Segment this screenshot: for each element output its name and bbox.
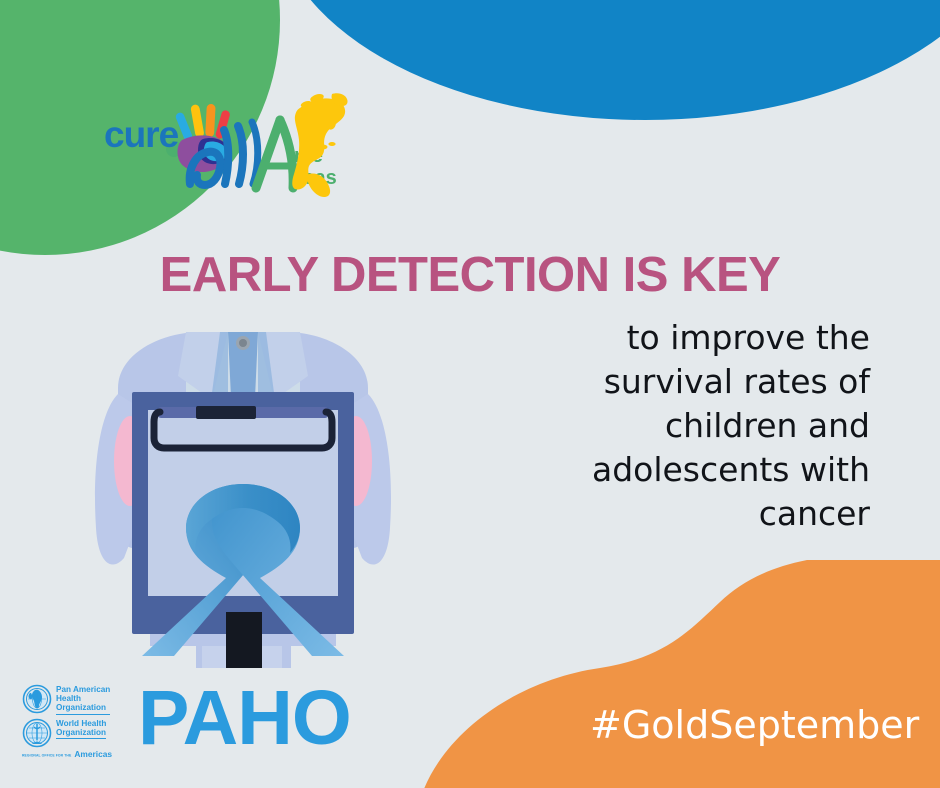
world-health-row: World Health Organization [22, 718, 134, 748]
paho-wordmark: PAHO [138, 680, 351, 757]
body-line-5: cancer [430, 492, 870, 536]
cureall-americas-a-text [256, 120, 293, 188]
health-line: Health [56, 694, 110, 703]
paho-emblems: Pan American Health Organization [22, 684, 134, 760]
body-line-2: survival rates of [430, 360, 870, 404]
orange-blob-decoration [420, 560, 940, 788]
americas-label: Americas [74, 749, 112, 759]
poster-canvas: cure me ricas EARLY DETECT [0, 0, 940, 788]
americas-map-icon [292, 93, 347, 197]
organization-line-1: Organization [56, 703, 110, 712]
cureall-cure-text: cure [104, 114, 179, 155]
pan-american-line: Pan American [56, 685, 110, 694]
paho-logo-lockup: Pan American Health Organization [22, 684, 412, 764]
world-health-line: World Health [56, 719, 106, 728]
regional-office-label: REGIONAL OFFICE FOR THE [22, 753, 71, 757]
doctor-clipboard-ribbon-illustration [78, 316, 408, 668]
cureall-americas-logo: cure me ricas [104, 92, 354, 197]
body-line-1: to improve the [430, 316, 870, 360]
pan-american-health-text: Pan American Health Organization [56, 684, 110, 715]
paho-globe-icon [22, 684, 52, 714]
body-line-3: children and [430, 404, 870, 448]
body-line-4: adolescents with [430, 448, 870, 492]
body-copy: to improve the survival rates of childre… [430, 316, 870, 535]
blue-blob-decoration [275, 0, 940, 120]
trouser-dark-panel [226, 612, 262, 668]
pan-american-health-row: Pan American Health Organization [22, 684, 134, 715]
regional-office-row: REGIONAL OFFICE FOR THE Americas [22, 749, 134, 759]
world-health-text: World Health Organization [56, 718, 106, 739]
who-emblem-icon [22, 718, 52, 748]
hashtag-text: #GoldSeptember [590, 703, 919, 747]
organization-line-2: Organization [56, 728, 106, 737]
page-title: EARLY DETECTION IS KEY [0, 247, 940, 303]
